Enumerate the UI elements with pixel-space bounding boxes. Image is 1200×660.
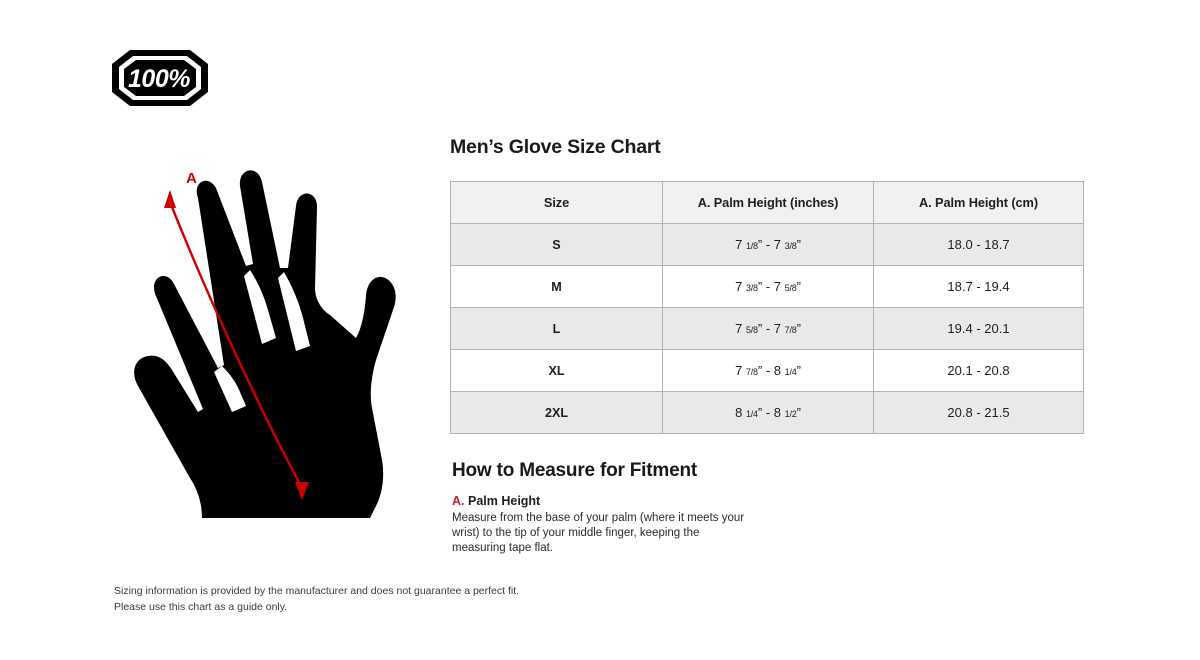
size-chart-page: 100% A Men’s Glove Size Chart	[0, 0, 1200, 660]
cell-inches: 7 7/8” - 8 1/4”	[663, 350, 874, 392]
cell-inches: 7 3/8” - 7 5/8”	[663, 266, 874, 308]
measure-description: Measure from the base of your palm (wher…	[452, 511, 752, 557]
table-row: S 7 1/8” - 7 3/8” 18.0 - 18.7	[451, 224, 1084, 266]
glove-hand-silhouette	[110, 160, 440, 540]
cell-cm: 20.1 - 20.8	[874, 350, 1084, 392]
frac-low: 1/4	[746, 409, 758, 419]
cell-cm: 20.8 - 21.5	[874, 392, 1084, 434]
whole-high: 7	[774, 237, 781, 252]
whole-high: 8	[774, 405, 781, 420]
frac-high: 1/4	[785, 367, 797, 377]
frac-high: 3/8	[785, 241, 797, 251]
cell-size: 2XL	[451, 392, 663, 434]
table-row: M 7 3/8” - 7 5/8” 18.7 - 19.4	[451, 266, 1084, 308]
frac-high: 1/2	[785, 409, 797, 419]
frac-low: 5/8	[746, 325, 758, 335]
whole-high: 8	[774, 363, 781, 378]
frac-low: 7/8	[746, 367, 758, 377]
whole-low: 7	[735, 363, 742, 378]
page-title: Men’s Glove Size Chart	[450, 136, 1086, 159]
cell-cm: 18.0 - 18.7	[874, 224, 1084, 266]
table-row: 2XL 8 1/4” - 8 1/2” 20.8 - 21.5	[451, 392, 1084, 434]
measure-item-heading: A. Palm Height	[452, 494, 1086, 508]
chart-panel: Men’s Glove Size Chart Size A. Palm Heig…	[450, 136, 1086, 557]
whole-high: 7	[774, 279, 781, 294]
measure-callout-label-a: A	[186, 170, 197, 187]
how-to-measure-title: How to Measure for Fitment	[452, 460, 1086, 482]
whole-low: 8	[735, 405, 742, 420]
frac-low: 1/8	[746, 241, 758, 251]
cell-size: M	[451, 266, 663, 308]
column-header-palm-height-inches: A. Palm Height (inches)	[663, 182, 874, 224]
svg-text:100%: 100%	[128, 65, 190, 93]
cell-inches: 7 1/8” - 7 3/8”	[663, 224, 874, 266]
whole-low: 7	[735, 321, 742, 336]
cell-size: XL	[451, 350, 663, 392]
whole-high: 7	[774, 321, 781, 336]
disclaimer-line-2: Please use this chart as a guide only.	[114, 599, 634, 615]
cell-size: S	[451, 224, 663, 266]
one-hundred-percent-logo: 100%	[112, 50, 208, 106]
column-header-size: Size	[451, 182, 663, 224]
table-row: XL 7 7/8” - 8 1/4” 20.1 - 20.8	[451, 350, 1084, 392]
cell-inches: 7 5/8” - 7 7/8”	[663, 308, 874, 350]
frac-high: 5/8	[785, 283, 797, 293]
column-header-palm-height-cm: A. Palm Height (cm)	[874, 182, 1084, 224]
cell-cm: 19.4 - 20.1	[874, 308, 1084, 350]
measure-item-letter: A.	[452, 494, 465, 508]
measure-item-name: Palm Height	[468, 494, 540, 508]
disclaimer-line-1: Sizing information is provided by the ma…	[114, 583, 634, 599]
table-row: L 7 5/8” - 7 7/8” 19.4 - 20.1	[451, 308, 1084, 350]
cell-inches: 8 1/4” - 8 1/2”	[663, 392, 874, 434]
frac-high: 7/8	[785, 325, 797, 335]
cell-size: L	[451, 308, 663, 350]
whole-low: 7	[735, 237, 742, 252]
cell-cm: 18.7 - 19.4	[874, 266, 1084, 308]
disclaimer: Sizing information is provided by the ma…	[114, 583, 634, 615]
size-chart-table: Size A. Palm Height (inches) A. Palm Hei…	[450, 181, 1084, 434]
frac-low: 3/8	[746, 283, 758, 293]
whole-low: 7	[735, 279, 742, 294]
table-header-row: Size A. Palm Height (inches) A. Palm Hei…	[451, 182, 1084, 224]
